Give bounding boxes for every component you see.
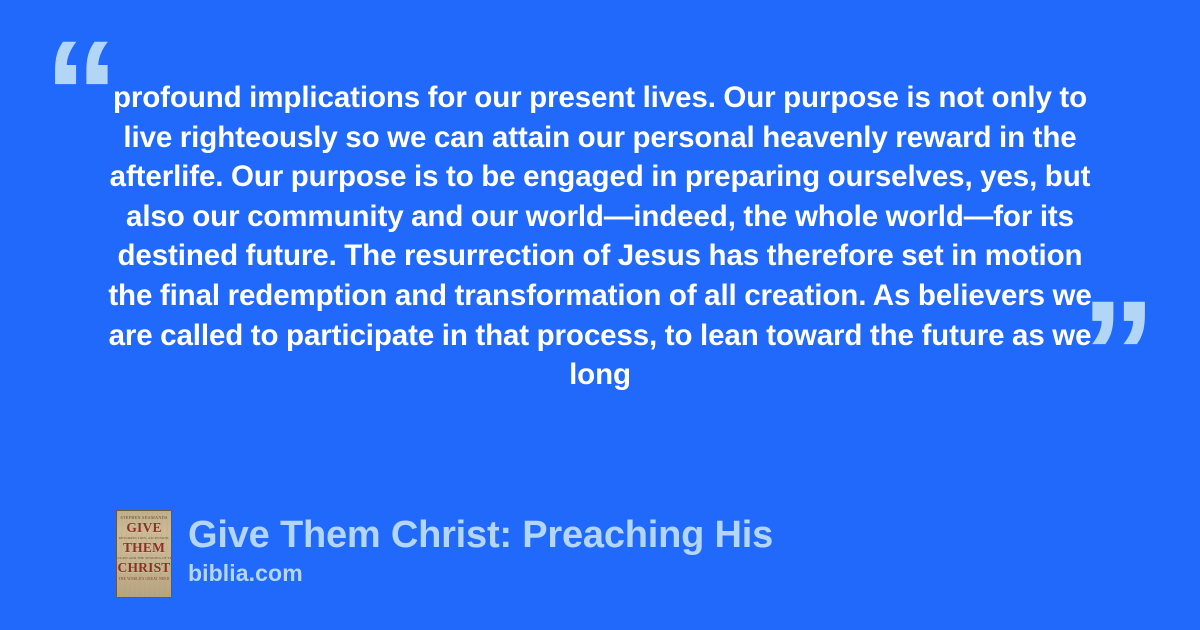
footer: STEPHEN SEAMANDS GIVE RESURRECTION, ASCE… (116, 510, 773, 598)
book-title[interactable]: Give Them Christ: Preaching His (188, 512, 773, 558)
book-cover-tagline: THE WORLD'S GREAT NEED (119, 577, 170, 581)
close-quote-icon: ” (1081, 278, 1158, 428)
site-name[interactable]: biblia.com (188, 558, 773, 588)
book-cover-text: STEPHEN SEAMANDS GIVE RESURRECTION, ASCE… (117, 511, 171, 597)
book-cover-word-give: GIVE (126, 521, 161, 535)
quote-text: profound implications for our present li… (108, 78, 1092, 395)
footer-text-block: Give Them Christ: Preaching His biblia.c… (188, 510, 773, 588)
book-cover-word-them: THEM (123, 541, 165, 555)
quote-card: “ profound implications for our present … (0, 0, 1200, 630)
book-cover-word-christ: CHRIST (118, 561, 171, 575)
book-cover-thumbnail[interactable]: STEPHEN SEAMANDS GIVE RESURRECTION, ASCE… (116, 510, 172, 598)
